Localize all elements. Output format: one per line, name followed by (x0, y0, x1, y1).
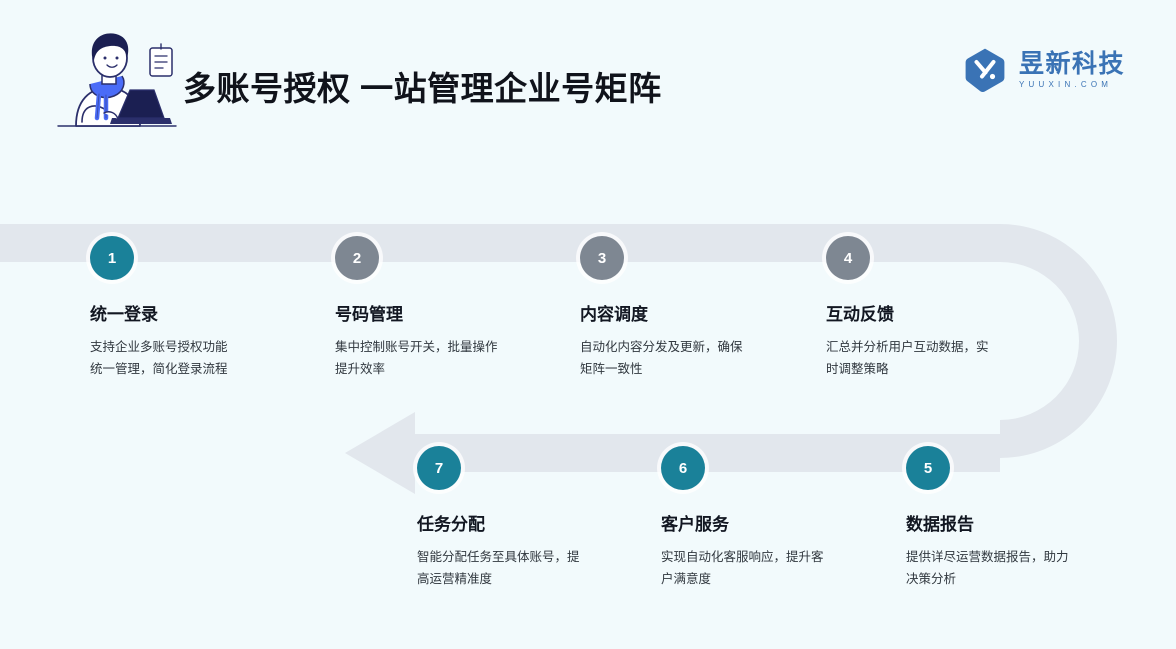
yuuxin-hexagon-logo-icon (962, 47, 1008, 93)
step-1-badge: 1 (90, 236, 134, 280)
step-5-description-line-2: 决策分析 (906, 569, 1096, 591)
step-3-badge: 3 (580, 236, 624, 280)
step-5-description-line-1: 提供详尽运营数据报告，助力 (906, 547, 1096, 569)
step-2-description-line-1: 集中控制账号开关，批量操作 (335, 337, 525, 359)
step-2-badge: 2 (335, 236, 379, 280)
slide-canvas: 多账号授权 一站管理企业号矩阵 昱新科技 YUUXIN.COM (0, 0, 1176, 649)
step-1-description: 支持企业多账号授权功能 统一管理，简化登录流程 (90, 337, 280, 381)
brand-domain: YUUXIN.COM (1019, 81, 1125, 89)
step-4-badge: 4 (826, 236, 870, 280)
brand-name: 昱新科技 (1019, 51, 1125, 77)
flow-step-5[interactable]: 5 数据报告 提供详尽运营数据报告，助力 决策分析 (906, 446, 1121, 591)
step-7-description: 智能分配任务至具体账号，提 高运营精准度 (417, 547, 607, 591)
flow-step-6[interactable]: 6 客户服务 实现自动化客服响应，提升客 户满意度 (661, 446, 876, 591)
step-6-description-line-1: 实现自动化客服响应，提升客 (661, 547, 851, 569)
step-3-description: 自动化内容分发及更新，确保 矩阵一致性 (580, 337, 770, 381)
step-3-title: 内容调度 (580, 304, 795, 326)
slide-header: 多账号授权 一站管理企业号矩阵 昱新科技 YUUXIN.COM (0, 0, 1176, 160)
brand-logo: 昱新科技 YUUXIN.COM (962, 44, 1132, 96)
step-6-badge: 6 (661, 446, 705, 490)
step-7-title: 任务分配 (417, 514, 632, 536)
flow-step-3[interactable]: 3 内容调度 自动化内容分发及更新，确保 矩阵一致性 (580, 236, 795, 381)
step-3-description-line-2: 矩阵一致性 (580, 359, 770, 381)
step-4-description: 汇总并分析用户互动数据，实 时调整策略 (826, 337, 1016, 381)
page-title: 多账号授权 一站管理企业号矩阵 (183, 68, 662, 111)
step-6-description-line-2: 户满意度 (661, 569, 851, 591)
step-7-description-line-2: 高运营精准度 (417, 569, 607, 591)
step-2-description-line-2: 提升效率 (335, 359, 525, 381)
flow-step-2[interactable]: 2 号码管理 集中控制账号开关，批量操作 提升效率 (335, 236, 550, 381)
step-6-title: 客户服务 (661, 514, 876, 536)
flow-step-4[interactable]: 4 互动反馈 汇总并分析用户互动数据，实 时调整策略 (826, 236, 1041, 381)
step-7-badge: 7 (417, 446, 461, 490)
person-at-laptop-illustration (52, 18, 182, 138)
flow-step-7[interactable]: 7 任务分配 智能分配任务至具体账号，提 高运营精准度 (417, 446, 632, 591)
step-1-description-line-2: 统一管理，简化登录流程 (90, 359, 280, 381)
step-4-title: 互动反馈 (826, 304, 1041, 326)
step-7-description-line-1: 智能分配任务至具体账号，提 (417, 547, 607, 569)
step-3-description-line-1: 自动化内容分发及更新，确保 (580, 337, 770, 359)
step-4-description-line-2: 时调整策略 (826, 359, 1016, 381)
flow-step-1[interactable]: 1 统一登录 支持企业多账号授权功能 统一管理，简化登录流程 (90, 236, 305, 381)
step-2-description: 集中控制账号开关，批量操作 提升效率 (335, 337, 525, 381)
step-5-title: 数据报告 (906, 514, 1121, 536)
step-5-description: 提供详尽运营数据报告，助力 决策分析 (906, 547, 1096, 591)
step-5-badge: 5 (906, 446, 950, 490)
step-2-title: 号码管理 (335, 304, 550, 326)
step-1-title: 统一登录 (90, 304, 305, 326)
step-4-description-line-1: 汇总并分析用户互动数据，实 (826, 337, 1016, 359)
step-6-description: 实现自动化客服响应，提升客 户满意度 (661, 547, 851, 591)
step-1-description-line-1: 支持企业多账号授权功能 (90, 337, 280, 359)
brand-text: 昱新科技 YUUXIN.COM (1019, 51, 1125, 88)
